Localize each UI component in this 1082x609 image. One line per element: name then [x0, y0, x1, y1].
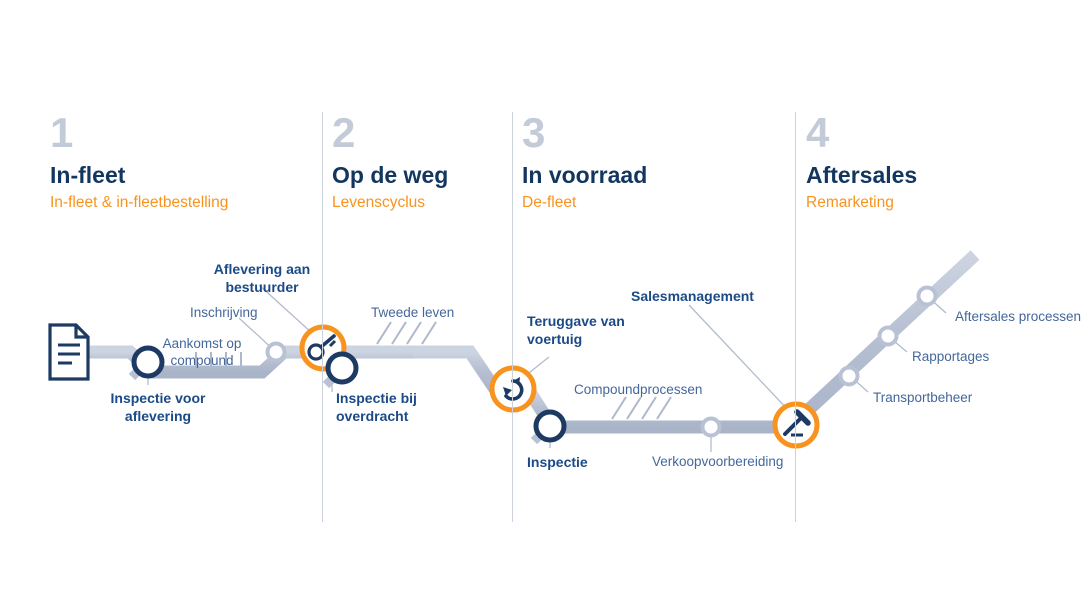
label-aflevering-aan-bestuurder: Aflevering aan bestuurder — [203, 261, 321, 296]
label-transportbeheer: Transportbeheer — [873, 390, 972, 407]
node-rapportages[interactable] — [880, 328, 897, 345]
column-subtitle-3: De-fleet — [522, 194, 647, 211]
label-aftersales-processen: Aftersales processen — [955, 309, 1081, 326]
column-title-4: Aftersales — [806, 163, 917, 188]
label-inspectie: Inspectie — [527, 454, 588, 472]
column-header-1: 1 In-fleet In-fleet & in-fleetbestelling — [50, 112, 228, 211]
label-line-1: Aankomst op — [152, 336, 252, 353]
column-subtitle-2: Levenscyclus — [332, 194, 448, 211]
node-aftersales-processen[interactable] — [919, 288, 936, 305]
label-rapportages: Rapportages — [912, 349, 989, 366]
label-compoundprocessen: Compoundprocessen — [574, 382, 702, 399]
column-subtitle-4: Remarketing — [806, 194, 917, 211]
label-line-2: bestuurder — [203, 279, 321, 297]
column-subtitle-1: In-fleet & in-fleetbestelling — [50, 194, 228, 211]
column-divider-3 — [795, 112, 796, 522]
column-title-3: In voorraad — [522, 163, 647, 188]
label-line-1: Inspectie bij — [336, 390, 417, 408]
node-transportbeheer[interactable] — [841, 368, 858, 385]
column-number-1: 1 — [50, 112, 228, 154]
label-line-2: overdracht — [336, 408, 417, 426]
label-inspectie-voor-aflevering: Inspectie voor aflevering — [100, 390, 216, 425]
label-aankomst-op-compound: Aankomst op compound — [152, 336, 252, 370]
label-inschrijving: Inschrijving — [190, 305, 258, 322]
column-header-3: 3 In voorraad De-fleet — [522, 112, 647, 211]
label-line-1: Aflevering aan — [203, 261, 321, 279]
label-line-1: Inspectie voor — [100, 390, 216, 408]
column-header-4: 4 Aftersales Remarketing — [806, 112, 917, 211]
label-verkoopvoorbereiding: Verkoopvoorbereiding — [652, 454, 783, 471]
label-tweede-leven: Tweede leven — [371, 305, 454, 322]
column-divider-2 — [512, 112, 513, 522]
hatch-compoundprocessen — [612, 397, 671, 419]
column-header-2: 2 Op de weg Levenscyclus — [332, 112, 448, 211]
column-number-3: 3 — [522, 112, 647, 154]
label-inspectie-bij-overdracht: Inspectie bij overdracht — [336, 390, 417, 425]
node-inschrijving[interactable] — [268, 344, 285, 361]
timeline-artwork — [0, 0, 1082, 609]
hatch-tweede-leven — [377, 322, 436, 344]
document-icon — [50, 325, 88, 379]
label-teruggave-van-voertuig: Teruggave van voertuig — [527, 313, 625, 348]
fleet-lifecycle-diagram: 1 In-fleet In-fleet & in-fleetbestelling… — [0, 0, 1082, 609]
node-teruggave-van-voertuig[interactable] — [492, 368, 534, 410]
node-salesmanagement[interactable] — [775, 404, 817, 446]
node-inspectie-bij-overdracht[interactable] — [326, 354, 356, 385]
column-divider-1 — [322, 112, 323, 522]
node-inspectie[interactable] — [534, 412, 564, 441]
leader-salesmanagement — [689, 305, 790, 412]
label-line-1: Teruggave van — [527, 313, 625, 331]
node-verkoopvoorbereiding[interactable] — [703, 419, 720, 436]
column-number-2: 2 — [332, 112, 448, 154]
column-number-4: 4 — [806, 112, 917, 154]
label-salesmanagement: Salesmanagement — [631, 288, 754, 306]
label-line-2: aflevering — [100, 408, 216, 426]
label-line-2: voertuig — [527, 331, 625, 349]
column-title-1: In-fleet — [50, 163, 228, 188]
column-title-2: Op de weg — [332, 163, 448, 188]
label-line-2: compound — [152, 353, 252, 370]
